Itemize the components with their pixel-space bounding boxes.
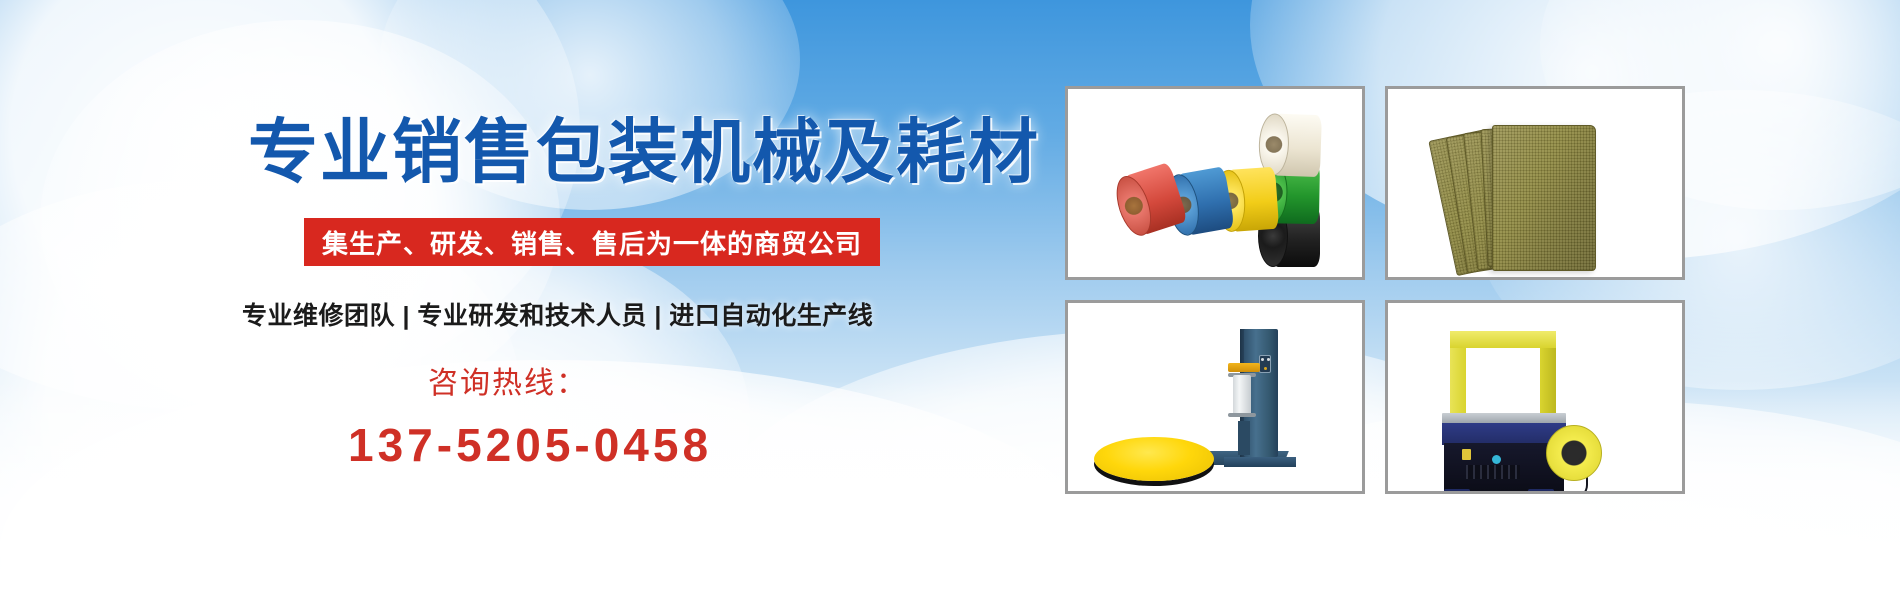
strap-coil-hub: [1566, 445, 1582, 461]
machine-button: [1492, 455, 1501, 464]
promo-banner: 专业销售包装机械及耗材 集生产、研发、销售、售后为一体的商贸公司 专业维修团队 …: [0, 0, 1900, 600]
machine-badge: [1462, 449, 1471, 460]
machine-leg: [1528, 489, 1554, 494]
product-tile-strapping-machine[interactable]: [1385, 300, 1685, 494]
product-tile-woven-sacks[interactable]: [1385, 86, 1685, 280]
stretch-film-roll: [1233, 375, 1251, 415]
strapping-rolls-image: [1068, 89, 1362, 277]
film-roll-cap: [1228, 413, 1256, 417]
panel-indicator: [1264, 367, 1267, 370]
banner-headline: 专业销售包装机械及耗材: [248, 96, 1040, 197]
machine-vents: [1466, 465, 1520, 479]
woven-sack: [1492, 125, 1596, 271]
arch-top-beam: [1450, 331, 1556, 348]
machine-base-rear: [1224, 457, 1296, 467]
panel-indicator: [1267, 358, 1270, 361]
banner-copy-block: 专业销售包装机械及耗材 集生产、研发、销售、售后为一体的商贸公司 专业维修团队 …: [0, 0, 1010, 600]
film-carriage: [1228, 363, 1260, 372]
hotline-label: 咨询热线：: [428, 358, 588, 402]
hotline-phone-number[interactable]: 137-5205-0458: [348, 418, 712, 472]
mast-slot: [1238, 421, 1250, 455]
services-line: 专业维修团队 | 专业研发和技术人员 | 进口自动化生产线: [242, 296, 873, 332]
panel-indicator: [1261, 358, 1264, 361]
stretch-wrapping-machine-image: [1068, 303, 1362, 491]
automatic-strapping-machine-image: [1388, 303, 1682, 491]
woven-sacks-image: [1388, 89, 1682, 277]
product-tile-strapping-rolls[interactable]: [1065, 86, 1365, 280]
machine-leg: [1444, 489, 1470, 494]
tagline-red-bar: 集生产、研发、销售、售后为一体的商贸公司: [304, 218, 880, 266]
product-image-grid: [1065, 86, 1685, 500]
tagline-text: 集生产、研发、销售、售后为一体的商贸公司: [322, 224, 862, 261]
yellow-turntable: [1094, 437, 1214, 481]
product-tile-stretch-wrapper[interactable]: [1065, 300, 1365, 494]
